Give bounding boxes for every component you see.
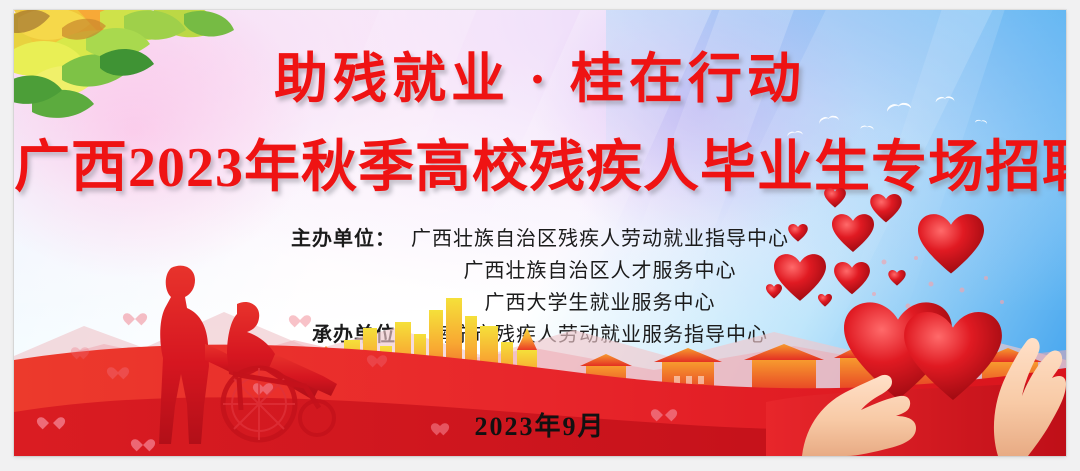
organizer-value: 广西壮族自治区残疾人劳动就业指导中心 <box>411 223 789 255</box>
heart-icon <box>74 342 86 353</box>
screenshot-canvas: 助残就业 · 桂在行动 广西2023年秋季高校残疾人毕业生专场招聘会 主办单位：… <box>0 0 1080 471</box>
recruitment-banner-poster: 助残就业 · 桂在行动 广西2023年秋季高校残疾人毕业生专场招聘会 主办单位：… <box>14 10 1066 456</box>
event-date: 2023年9月 <box>14 406 1066 443</box>
poster-main-title: 助残就业 · 桂在行动 <box>14 34 1066 113</box>
organizer-label: 主办单位： <box>291 223 411 255</box>
organizer-row: 主办单位： 广西壮族自治区残疾人劳动就业指导中心 <box>291 223 789 255</box>
heart-icon <box>370 350 384 362</box>
